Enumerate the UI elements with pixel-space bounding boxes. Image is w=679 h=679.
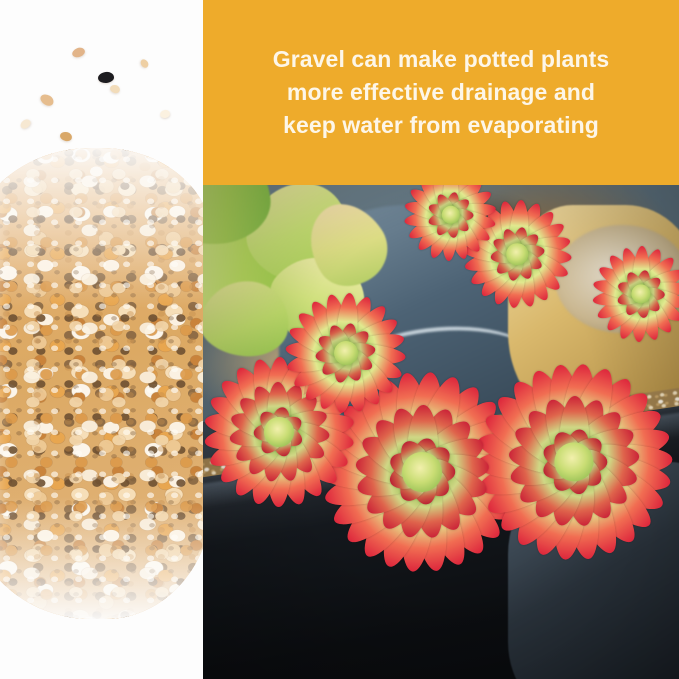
rosette-core	[506, 243, 528, 265]
rosette-core	[334, 341, 358, 365]
rosette-core	[402, 452, 442, 492]
infographic-canvas: Gravel can make potted plants more effec…	[0, 0, 679, 679]
caption-line-2: more effective drainage and	[287, 76, 595, 109]
gravel-pile	[0, 148, 203, 619]
gravel-edge-fade-bottom	[0, 497, 203, 619]
caption-line-1: Gravel can make potted plants	[273, 43, 610, 76]
gravel-pebble	[38, 92, 55, 108]
gravel-pebble	[159, 109, 171, 119]
gravel-sample-photo	[0, 0, 203, 679]
rosette-top-right	[593, 246, 679, 342]
gravel-pebble	[97, 71, 114, 84]
gravel-pebble	[139, 58, 150, 69]
rosette-front-right	[476, 364, 672, 560]
succulent-planter-photo	[203, 185, 679, 679]
gravel-pebble	[109, 84, 121, 94]
caption-banner: Gravel can make potted plants more effec…	[203, 0, 679, 185]
caption-line-3: keep water from evaporating	[283, 109, 599, 142]
gravel-edge-fade-top	[0, 148, 203, 308]
gravel-pebble	[19, 117, 33, 130]
gravel-edge-fade-left	[0, 148, 9, 619]
gravel-pebble	[59, 131, 73, 142]
gravel-pebble	[71, 46, 86, 59]
rosette-core	[264, 417, 294, 447]
